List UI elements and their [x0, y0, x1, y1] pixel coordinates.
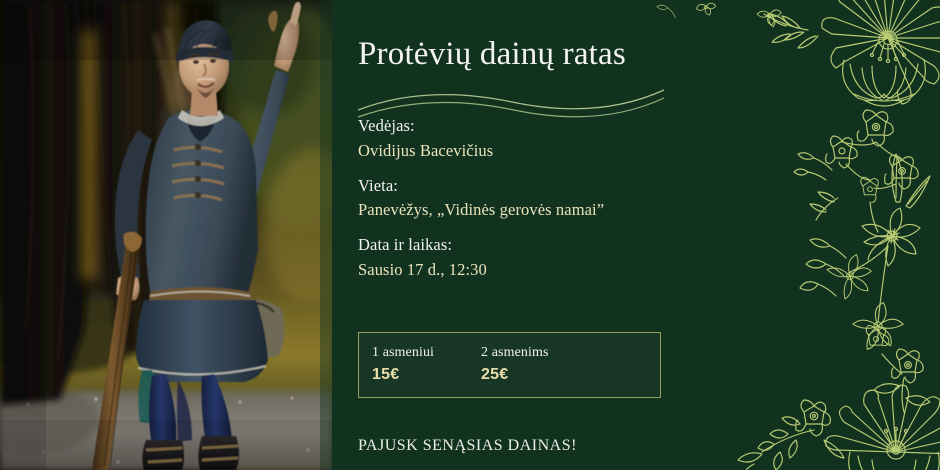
detail-value: Ovidijus Bacevičius [358, 139, 818, 164]
detail-datetime: Data ir laikas: Sausio 17 d., 12:30 [358, 233, 818, 283]
price-box: 1 asmeniui 15€ 2 asmenims 25€ [358, 332, 661, 398]
detail-label: Data ir laikas: [358, 233, 818, 258]
price-label: 1 asmeniui [372, 344, 434, 363]
detail-location: Vieta: Panevėžys, „Vidinės gerovės namai… [358, 174, 818, 224]
price-column-double: 2 asmenims 25€ [434, 344, 549, 385]
detail-label: Vieta: [358, 174, 818, 199]
detail-value: Sausio 17 d., 12:30 [358, 258, 818, 283]
event-details: Vedėjas: Ovidijus Bacevičius Vieta: Pane… [358, 114, 818, 293]
price-amount: 25€ [481, 364, 549, 386]
detail-value: Panevėžys, „Vidinės gerovės namai” [358, 198, 818, 223]
event-poster: Protėvių dainų ratas Vedėjas: Ovidijus B… [0, 0, 940, 470]
page-title: Protėvių dainų ratas [358, 36, 626, 73]
detail-label: Vedėjas: [358, 114, 818, 139]
poster-content: Protėvių dainų ratas Vedėjas: Ovidijus B… [358, 0, 858, 470]
price-column-single: 1 asmeniui 15€ [359, 344, 434, 385]
tagline: PAJUSK SENĄSIAS DAINAS! [358, 437, 577, 455]
event-photo [0, 0, 332, 470]
price-label: 2 asmenims [481, 344, 549, 363]
detail-host: Vedėjas: Ovidijus Bacevičius [358, 114, 818, 164]
price-amount: 15€ [372, 364, 434, 386]
